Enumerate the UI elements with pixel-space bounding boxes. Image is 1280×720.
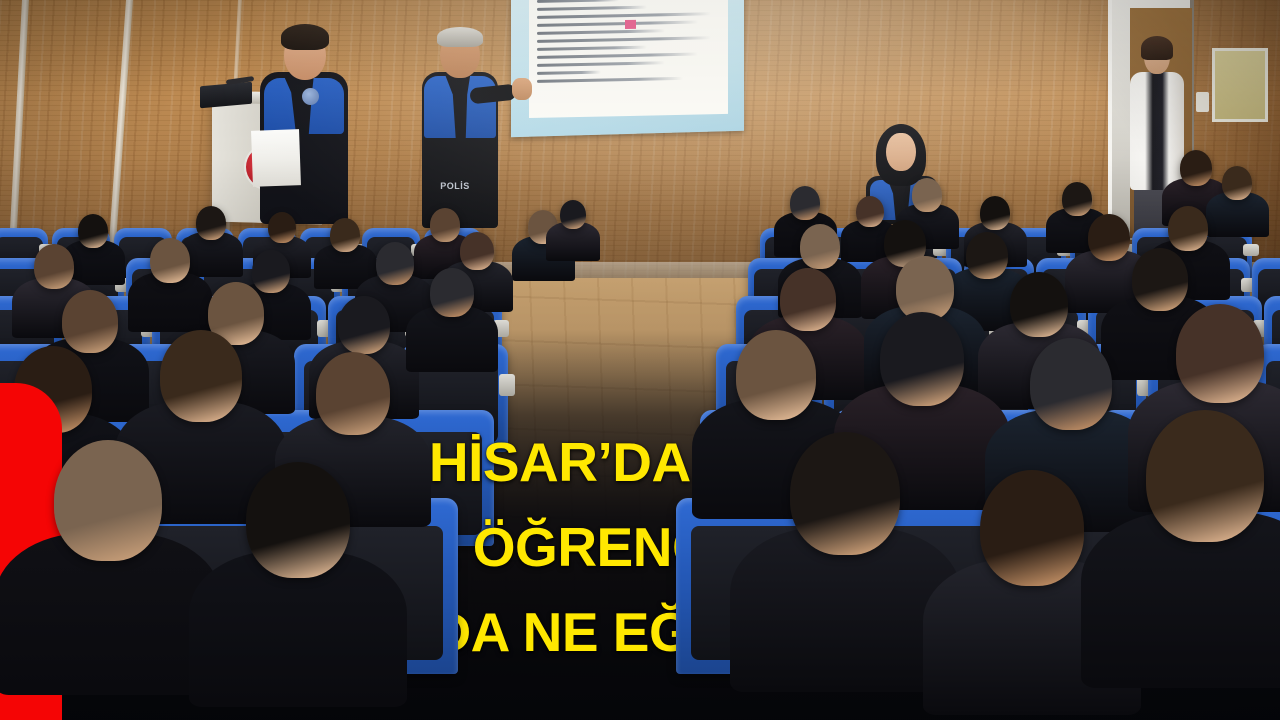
audience-member-head <box>376 242 414 285</box>
audience-member-head <box>1132 248 1188 311</box>
audience-member-head <box>912 178 942 212</box>
audience-member-head <box>338 296 390 354</box>
audience-member-head <box>1088 214 1130 261</box>
audience-member-head <box>736 330 816 420</box>
audience-member-head <box>150 238 190 283</box>
slide-text-line <box>537 6 647 11</box>
slide-text-line <box>537 36 711 43</box>
audience-member-head <box>1062 182 1092 216</box>
audience-member-head <box>1176 304 1264 403</box>
officer-face <box>886 133 916 171</box>
officer-hair <box>281 24 329 50</box>
audience-member-head <box>856 196 884 227</box>
slide-text-line <box>537 71 601 75</box>
framed-notice <box>1212 48 1268 122</box>
person-hair <box>1141 36 1173 60</box>
seat-armrest <box>499 374 515 396</box>
slide-highlight-mark <box>625 20 636 29</box>
seat-armrest <box>1243 244 1259 256</box>
audience-member-head <box>460 232 494 270</box>
uniform-polis-text: POLİS <box>430 180 480 192</box>
audience-member-head <box>196 206 226 240</box>
police-officer-speaking: POLİS <box>418 28 506 228</box>
audience-member-head <box>430 208 460 242</box>
audience-member-head <box>316 352 390 435</box>
slide-text-line <box>537 77 683 83</box>
news-thumbnail: POLİS AFYONKARAHİSAR’DA EMNİYET LİSE ÖĞR <box>0 0 1280 720</box>
audience-member-head <box>880 312 964 406</box>
audience-member-head <box>1010 272 1068 337</box>
audience-member-head <box>34 244 74 289</box>
audience-member-head <box>790 186 820 220</box>
audience-member-head <box>62 290 118 353</box>
audience-member-head <box>966 232 1008 279</box>
audience-member-head <box>980 196 1010 230</box>
audience-member-head <box>780 268 836 331</box>
slide-text-line <box>537 0 619 3</box>
audience-member-head <box>330 218 360 252</box>
audience-member-head <box>246 462 350 578</box>
officer-badge-icon <box>302 88 319 105</box>
officer-hand <box>512 78 532 100</box>
audience-member-head <box>1180 150 1212 186</box>
audience-member-head <box>980 470 1084 586</box>
paper-sheet <box>251 129 301 187</box>
audience-member-head <box>252 250 290 293</box>
slide-text-line <box>537 53 698 59</box>
audience-member-head <box>430 268 474 317</box>
presentation-slide <box>529 0 728 118</box>
projection-screen <box>511 0 744 137</box>
light-switch <box>1196 92 1209 112</box>
laptop <box>200 82 252 109</box>
audience-member-head <box>268 212 296 243</box>
slide-text-line <box>537 46 647 51</box>
slide-text-line <box>537 29 665 35</box>
audience-member-head <box>54 440 162 561</box>
audience-member-head <box>78 214 108 248</box>
audience-member-head <box>1146 410 1264 542</box>
audience-member-head <box>1168 206 1208 251</box>
audience-member-head <box>1030 338 1112 430</box>
police-officer-at-podium <box>258 24 350 224</box>
slide-text-line <box>537 61 665 67</box>
audience-member-head <box>560 200 586 229</box>
person-torso <box>1130 72 1184 190</box>
slide-text-line <box>537 21 698 27</box>
slide-text-line <box>537 12 711 19</box>
audience-member-head <box>790 432 900 555</box>
audience-member-head <box>800 224 840 269</box>
officer-hair <box>437 27 483 47</box>
audience-member-head <box>160 330 242 422</box>
audience-member-head <box>1222 166 1252 200</box>
